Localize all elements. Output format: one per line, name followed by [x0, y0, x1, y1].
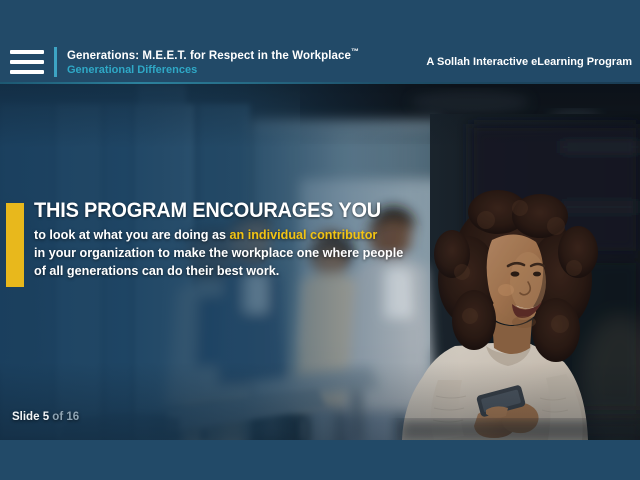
slide-body-line-3: of all generations can do their best wor… — [34, 263, 279, 278]
header-underline — [0, 82, 640, 84]
header-title-group: Generations: M.E.E.T. for Respect in the… — [67, 48, 359, 76]
footer-strip — [0, 440, 640, 480]
elearning-slide-viewer: Generations: M.E.E.T. for Respect in the… — [0, 0, 640, 480]
hamburger-bar-2 — [10, 60, 44, 64]
slide-body-highlight: an individual contributor — [229, 227, 377, 242]
slide-counter-total: 16 — [66, 411, 79, 423]
callout-text-block: THIS PROGRAM ENCOURAGES YOU to look at w… — [34, 200, 430, 287]
header-divider — [54, 47, 57, 77]
course-title-text: Generations: M.E.E.T. for Respect in the… — [67, 50, 351, 62]
slide-headline: THIS PROGRAM ENCOURAGES YOU — [34, 200, 410, 222]
hamburger-menu-icon[interactable] — [10, 50, 44, 74]
gold-accent-bar — [6, 203, 24, 287]
slide-counter: Slide 5 of 16 — [12, 411, 79, 423]
course-subtitle: Generational Differences — [67, 65, 359, 77]
slide-header: Generations: M.E.E.T. for Respect in the… — [0, 0, 640, 84]
trademark-symbol: ™ — [351, 47, 359, 56]
hamburger-bar-1 — [10, 50, 44, 54]
slide-counter-label: Slide — [12, 411, 39, 423]
program-label: A Sollah Interactive eLearning Program — [426, 56, 632, 68]
hamburger-bar-3 — [10, 70, 44, 74]
slide-body-line-1: to look at what you are doing as — [34, 227, 229, 242]
slide-body-line-2: in your organization to make the workpla… — [34, 245, 403, 260]
slide-body: to look at what you are doing as an indi… — [34, 226, 418, 280]
slide-callout: THIS PROGRAM ENCOURAGES YOU to look at w… — [0, 200, 430, 287]
course-title: Generations: M.E.E.T. for Respect in the… — [67, 48, 359, 62]
slide-counter-of: of — [52, 411, 63, 423]
